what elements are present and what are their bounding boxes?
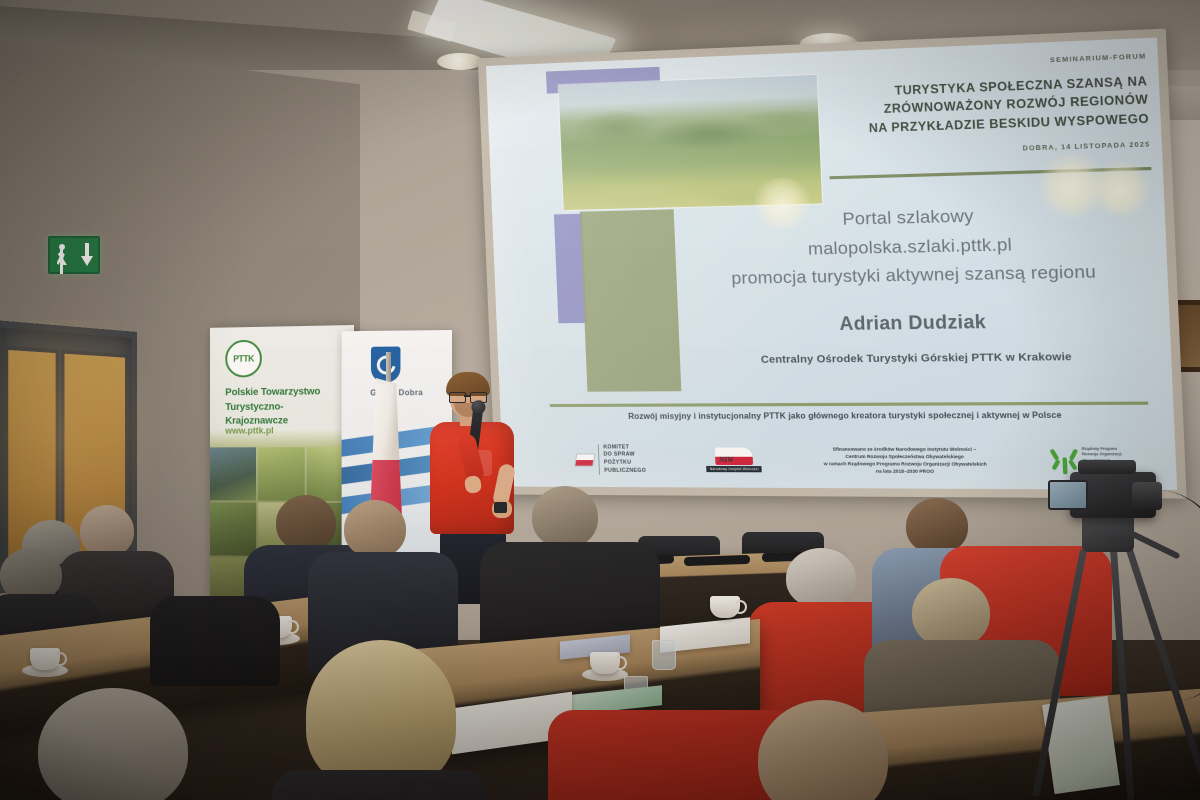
camera-cable — [1156, 490, 1200, 700]
pttk-name-line-1: Polskie Towarzystwo — [225, 385, 344, 401]
slide-title: TURYSTYKA SPOŁECZNA SZANSĄ NA ZRÓWNOWAŻO… — [826, 73, 1150, 140]
slide-date: DOBRA, 14 LISTOPADA 2025 — [828, 142, 1150, 159]
financing-line-1: Sfinansowano ze środków Narodowego Insty… — [823, 445, 986, 453]
pttk-banner-url: www.pttk.pl — [225, 425, 273, 435]
niw-logo: NIW Narodowy Instytut Wolności — [706, 447, 762, 472]
head — [38, 688, 188, 800]
pttk-logo-text: PTTK — [233, 354, 254, 364]
coffee-cup — [710, 596, 740, 618]
pttk-logo-icon: PTTK — [225, 340, 262, 378]
komitet-line-1: KOMITET — [603, 444, 645, 452]
torso — [272, 770, 488, 800]
slide-project-line: Rozwój misyjny i instytucjonalny PTTK ja… — [540, 410, 1160, 421]
komitet-logo-text: KOMITET DO SPRAW POŻYTKU PUBLICZNEGO — [598, 444, 646, 475]
financing-note: Sfinansowano ze środków Narodowego Insty… — [823, 445, 987, 475]
conference-room-photo: SEMINARIUM-FORUM TURYSTYKA SPOŁECZNA SZA… — [0, 0, 1200, 800]
presentation-slide: SEMINARIUM-FORUM TURYSTYKA SPOŁECZNA SZA… — [486, 38, 1177, 490]
head — [344, 500, 406, 558]
mountain-panorama-photo — [559, 75, 823, 210]
niw-subtitle: Narodowy Instytut Wolności — [706, 466, 762, 472]
coffee-cup — [30, 648, 60, 670]
slide-body: Portal szlakowy malopolska.szlaki.pttk.p… — [674, 197, 1157, 294]
head — [912, 578, 990, 648]
audience-member — [18, 688, 218, 800]
head — [758, 700, 888, 800]
niw-flag-icon: NIW — [714, 447, 752, 465]
komitet-line-3: POŻYTKU — [604, 460, 646, 468]
camera-top-handle — [1078, 460, 1136, 474]
head — [786, 548, 856, 608]
head — [982, 492, 1050, 552]
komitet-logo: KOMITET DO SPRAW POŻYTKU PUBLICZNEGO — [575, 444, 646, 475]
emergency-exit-icon — [48, 236, 100, 274]
polish-flag-icon — [574, 453, 595, 466]
slide-speaker-name: Adrian Dudziak — [678, 309, 1159, 337]
slide-header: SEMINARIUM-FORUM TURYSTYKA SPOŁECZNA SZA… — [825, 53, 1151, 159]
head — [306, 640, 456, 790]
slide-accent-olive — [580, 209, 681, 391]
niw-mark-text: NIW — [719, 456, 734, 464]
glasses-icon — [449, 392, 487, 401]
running-man-icon — [56, 244, 70, 266]
audience-member — [150, 556, 270, 676]
audience-member — [278, 640, 478, 800]
ceiling-speaker-icon — [437, 53, 483, 70]
pttk-banner-name: Polskie Towarzystwo Turystyczno-Krajozna… — [225, 385, 344, 429]
tripod-head — [1082, 512, 1134, 552]
camera-lcd-screen — [1048, 480, 1088, 510]
slide-divider-top — [829, 167, 1151, 179]
audience-member — [718, 700, 918, 800]
financing-line-4: na lata 2018–2030 PROO — [824, 467, 987, 475]
slide-speaker-org: Centralny Ośrodek Turystyki Górskiej PTT… — [680, 350, 1160, 367]
coffee-cup — [590, 652, 620, 674]
komitet-line-4: PUBLICZNEGO — [604, 467, 646, 475]
projection-screen: SEMINARIUM-FORUM TURYSTYKA SPOŁECZNA SZA… — [486, 38, 1177, 490]
komitet-line-2: DO SPRAW — [604, 452, 646, 460]
tripod-leg — [1110, 550, 1134, 800]
down-arrow-icon — [81, 243, 93, 267]
slide-divider-bottom — [550, 402, 1148, 407]
slide-eyebrow: SEMINARIUM-FORUM — [825, 53, 1147, 73]
water-glass — [652, 640, 676, 670]
torso — [150, 596, 280, 686]
camera-tripod — [1052, 470, 1182, 800]
head — [532, 486, 598, 548]
